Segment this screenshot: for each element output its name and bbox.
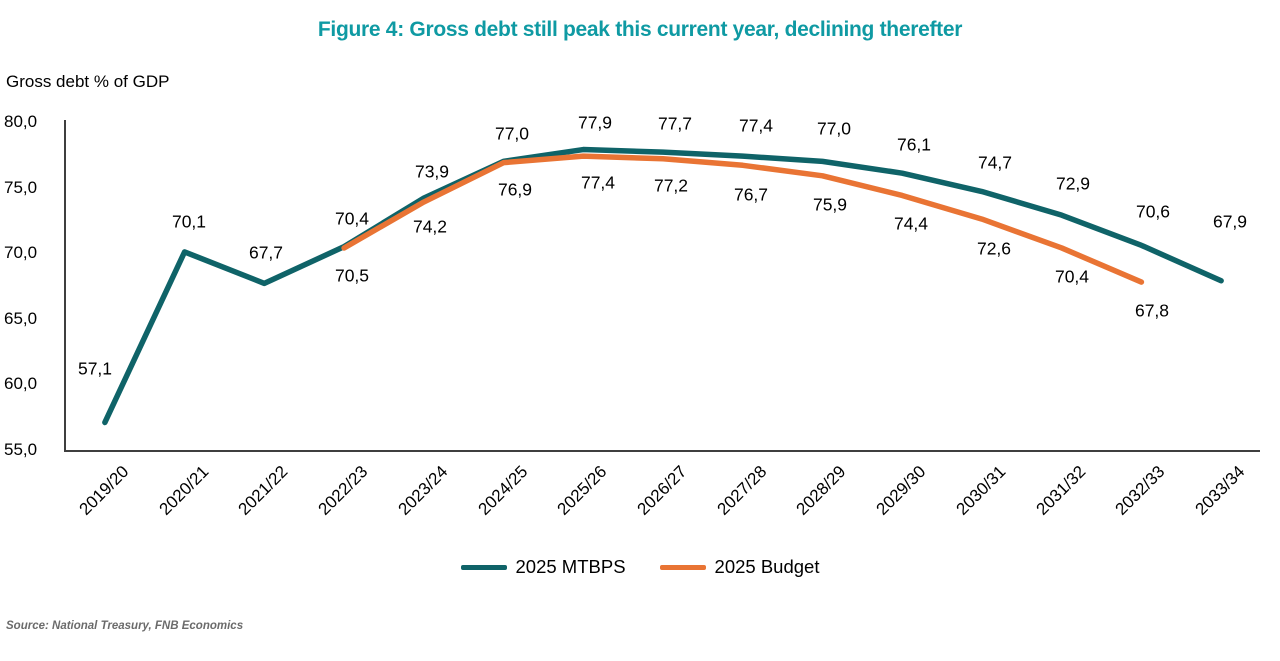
data-point-label: 57,1	[78, 359, 112, 380]
data-point-label: 67,8	[1135, 301, 1169, 322]
data-point-label: 76,9	[498, 180, 532, 201]
data-point-label: 75,9	[813, 195, 847, 216]
legend-label: 2025 MTBPS	[516, 556, 626, 578]
data-point-label: 70,6	[1136, 202, 1170, 223]
data-point-label: 77,0	[495, 124, 529, 145]
data-point-label: 70,5	[335, 266, 369, 287]
legend-label: 2025 Budget	[715, 556, 820, 578]
data-point-label: 77,4	[581, 173, 615, 194]
data-point-label: 67,9	[1213, 212, 1247, 233]
data-point-label: 70,4	[335, 209, 369, 230]
data-point-label: 72,9	[1056, 174, 1090, 195]
data-point-label: 77,7	[658, 114, 692, 135]
data-point-label: 76,1	[897, 135, 931, 156]
legend-item-2025-mtbps[interactable]: 2025 MTBPS	[461, 556, 626, 578]
data-point-label: 77,0	[817, 119, 851, 140]
source-note: Source: National Treasury, FNB Economics	[6, 620, 243, 632]
legend-item-2025-budget[interactable]: 2025 Budget	[660, 556, 820, 578]
data-point-label: 72,6	[977, 239, 1011, 260]
legend-swatch-icon	[660, 565, 706, 570]
data-point-label: 76,7	[734, 185, 768, 206]
data-point-label: 70,4	[1055, 267, 1089, 288]
legend-swatch-icon	[461, 565, 507, 570]
data-point-label: 67,7	[249, 243, 283, 264]
data-point-label: 74,2	[413, 217, 447, 238]
data-point-label: 73,9	[415, 162, 449, 183]
data-point-label: 70,1	[172, 212, 206, 233]
data-point-label: 74,7	[978, 153, 1012, 174]
chart-legend: 2025 MTBPS 2025 Budget	[0, 556, 1280, 578]
data-point-label: 74,4	[894, 214, 928, 235]
data-point-label: 77,4	[739, 116, 773, 137]
data-point-label: 77,9	[578, 113, 612, 134]
data-point-label: 77,2	[654, 176, 688, 197]
chart-figure: Figure 4: Gross debt still peak this cur…	[0, 0, 1280, 661]
